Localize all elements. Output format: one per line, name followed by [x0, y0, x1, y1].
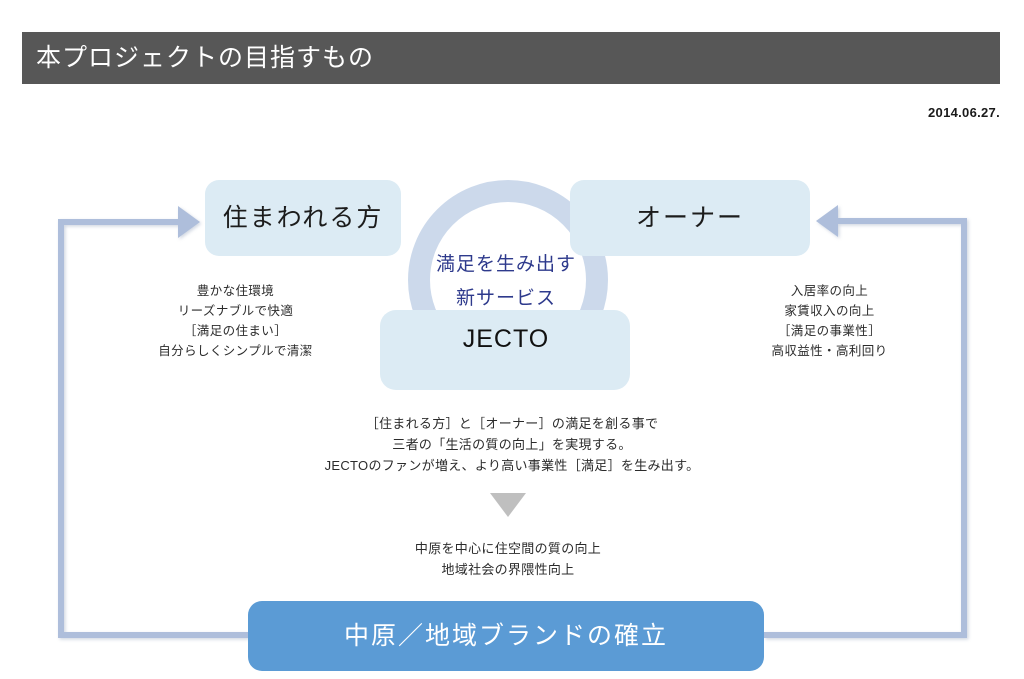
- box-owners-label: オーナー: [636, 206, 744, 231]
- slide-date: 2014.06.27.: [928, 105, 1000, 120]
- down-arrow-icon: [490, 493, 526, 517]
- benefits-owners-line-4: 高収益性・高利回り: [732, 341, 927, 361]
- benefits-owners-line-3: ［満足の事業性］: [732, 321, 927, 341]
- center-tagline-2: 新サービス: [378, 282, 634, 316]
- box-owners[interactable]: オーナー: [570, 180, 810, 256]
- center-text-group: 満足を生み出す 新サービス JECTO: [378, 248, 634, 362]
- outcome-line-2: 地域社会の界隈性向上: [308, 559, 708, 580]
- outcome-description: 中原を中心に住空間の質の向上 地域社会の界隈性向上: [308, 538, 708, 580]
- benefits-owners-line-1: 入居率の向上: [732, 281, 927, 301]
- box-regional-brand-label: 中原／地域ブランドの確立: [344, 624, 668, 649]
- middle-description: ［住まれる方］と［オーナー］の満足を創る事で 三者の「生活の質の向上」を実現する…: [212, 413, 812, 476]
- benefits-residents-line-2: リーズナブルで快適: [128, 301, 343, 321]
- box-residents-label: 住まわれる方: [223, 206, 384, 231]
- center-brand-name: JECTO: [378, 316, 634, 362]
- box-regional-brand[interactable]: 中原／地域ブランドの確立: [248, 601, 764, 671]
- benefits-list-residents: 豊かな住環境 リーズナブルで快適 ［満足の住まい］ 自分らしくシンプルで清潔: [128, 281, 343, 361]
- slide-canvas: 本プロジェクトの目指すもの 2014.06.27. 住まわれる方 オーナー 満: [0, 0, 1024, 679]
- benefits-residents-line-3: ［満足の住まい］: [128, 321, 343, 341]
- center-tagline-1: 満足を生み出す: [378, 248, 634, 282]
- box-residents[interactable]: 住まわれる方: [205, 180, 401, 256]
- middle-description-line-3: JECTOのファンが増え、より高い事業性［満足］を生み出す。: [212, 455, 812, 476]
- middle-description-line-2: 三者の「生活の質の向上」を実現する。: [212, 434, 812, 455]
- outcome-line-1: 中原を中心に住空間の質の向上: [308, 538, 708, 559]
- benefits-residents-line-1: 豊かな住環境: [128, 281, 343, 301]
- benefits-residents-line-4: 自分らしくシンプルで清潔: [128, 341, 343, 361]
- benefits-list-owners: 入居率の向上 家賃収入の向上 ［満足の事業性］ 高収益性・高利回り: [732, 281, 927, 361]
- benefits-owners-line-2: 家賃収入の向上: [732, 301, 927, 321]
- slide-title-bar: 本プロジェクトの目指すもの: [22, 32, 1000, 84]
- page-title: 本プロジェクトの目指すもの: [22, 46, 374, 71]
- middle-description-line-1: ［住まれる方］と［オーナー］の満足を創る事で: [212, 413, 812, 434]
